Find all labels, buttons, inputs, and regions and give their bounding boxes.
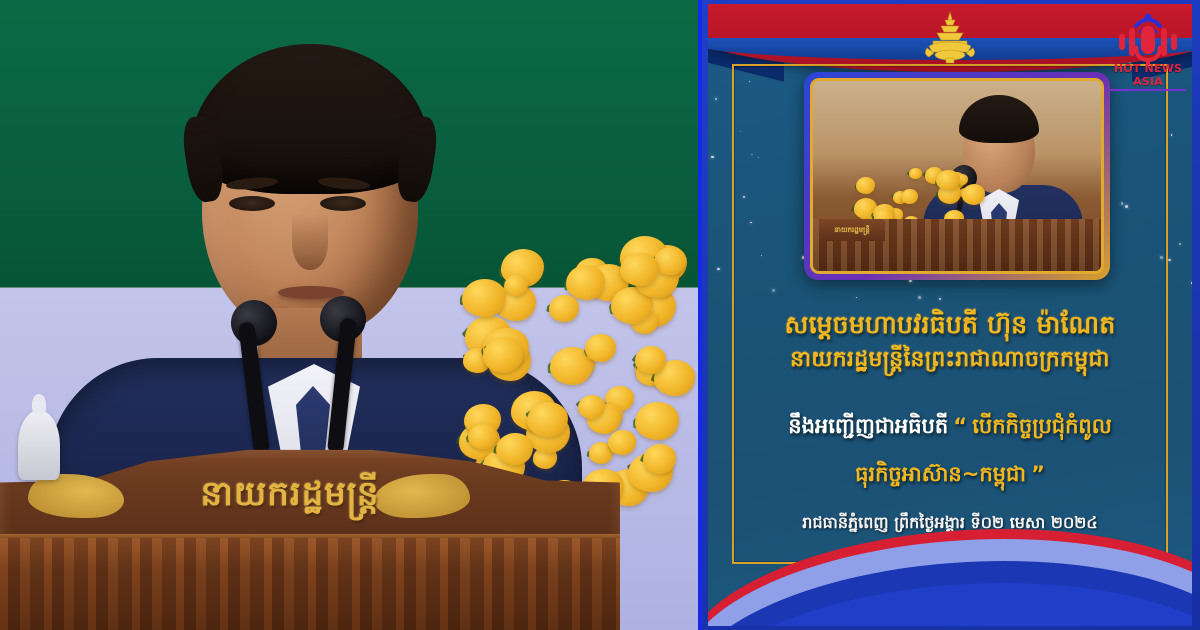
- quote-line-1: បើកកិច្ចប្រជុំកំពូល: [972, 414, 1112, 438]
- star-dot: [711, 156, 714, 159]
- bouquet-flower: [962, 184, 986, 205]
- star-dot: [1125, 205, 1128, 208]
- star-dot: [715, 98, 717, 100]
- bouquet-flower: [483, 337, 523, 373]
- speaker-figure: [150, 28, 480, 498]
- bouquet-flower: [901, 189, 918, 204]
- star-dot: [761, 255, 762, 256]
- star-dot: [743, 196, 745, 198]
- logo-underline: [1110, 89, 1186, 91]
- bouquet-flower: [566, 265, 606, 300]
- body-line-2: ធុរកិច្ចអាស៊ាន~កម្ពុជា ”: [708, 460, 1192, 488]
- quote-line-2: ធុរកិច្ចអាស៊ាន~កម្ពុជា: [855, 462, 1026, 486]
- bouquet-flower: [654, 247, 686, 275]
- hot-news-asia-logo[interactable]: HOT NEWS ASIA: [1102, 4, 1194, 92]
- star-dot: [740, 131, 742, 133]
- royal-emblem-icon: [919, 10, 981, 66]
- star-dot: [856, 297, 857, 298]
- bouquet-flower: [936, 170, 959, 191]
- star-dot: [1191, 282, 1192, 283]
- speaker-photo-panel: នាយករដ្ឋមន្ត្រី: [0, 0, 700, 630]
- speaker-eye-left: [229, 196, 275, 211]
- star-dot: [909, 280, 911, 282]
- body-line-1: នឹងអញ្ជើញជាអធិបតី “ បើកកិច្ចប្រជុំកំពូល: [708, 412, 1192, 440]
- podium-carving: [0, 538, 620, 630]
- speaker-hair: [190, 44, 430, 194]
- star-dot: [1168, 259, 1171, 262]
- star-dot: [772, 289, 775, 292]
- star-dot: [1121, 202, 1124, 205]
- star-dot: [750, 222, 752, 224]
- panel-divider: [698, 0, 702, 630]
- headline-line-2: នាយករដ្ឋមន្ត្រីនៃព្រះរាជាណាចក្រកម្ពុជា: [708, 346, 1192, 374]
- portrait-hair: [959, 95, 1039, 143]
- star-dot: [918, 296, 921, 299]
- bouquet-flower: [635, 402, 679, 441]
- star-dot: [1171, 134, 1173, 136]
- podium-label: នាយករដ្ឋមន្ត្រី: [120, 472, 460, 522]
- bouquet-flower: [585, 334, 616, 362]
- quote-close-mark: ”: [1031, 462, 1045, 486]
- star-dot: [758, 157, 759, 158]
- body-prefix-text: នឹងអញ្ជើញជាអធិបតី: [788, 414, 948, 438]
- portrait-podium-label: នាយករដ្ឋមន្ត្រី: [819, 219, 885, 241]
- bouquet-flower: [856, 177, 875, 193]
- bouquet-flower: [909, 168, 921, 179]
- star-dot: [751, 154, 753, 156]
- quote-open-mark: “: [953, 414, 967, 438]
- bouquet-flower: [620, 253, 658, 287]
- podium-lamp-finial: [18, 410, 60, 480]
- podium: នាយករដ្ឋមន្ត្រី: [0, 444, 620, 630]
- bouquet-flower: [462, 279, 505, 317]
- bottom-swoosh-decoration: [708, 536, 1192, 626]
- speaker-eye-right: [320, 196, 366, 211]
- headline-line-1: សម្តេចមហាបវរធិបតី ហ៊ុន ម៉ាណែត: [708, 309, 1192, 340]
- portrait-frame: នាយករដ្ឋមន្ត្រី: [804, 72, 1110, 280]
- speaker-nose: [292, 214, 328, 270]
- portrait-photo: នាយករដ្ឋមន្ត្រី: [810, 78, 1104, 274]
- star-dot: [1160, 256, 1163, 259]
- star-dot: [1179, 243, 1182, 246]
- star-dot: [717, 268, 719, 270]
- podium-base: [0, 538, 620, 630]
- star-dot: [749, 81, 750, 82]
- screenshot-stage: នាយករដ្ឋមន្ត្រី: [0, 0, 1200, 630]
- announcement-poster: នាយករដ្ឋមន្ត្រី សម្តេចមហាបវរធិបតី ហ៊ុន ម…: [700, 0, 1200, 630]
- logo-brand-text: HOT NEWS ASIA: [1102, 62, 1194, 88]
- poster-inner-board: នាយករដ្ឋមន្ត្រី សម្តេចមហាបវរធិបតី ហ៊ុន ម…: [708, 4, 1192, 626]
- bouquet-flower: [527, 402, 568, 438]
- bouquet-flower: [549, 295, 579, 321]
- star-dot: [939, 298, 941, 300]
